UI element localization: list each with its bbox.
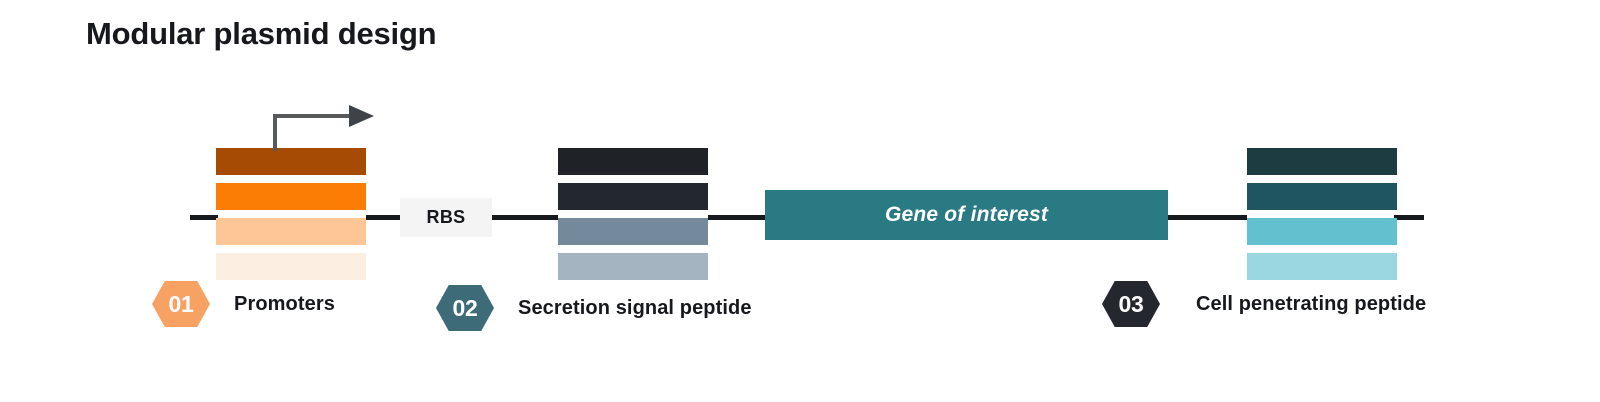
gene-of-interest-label: Gene of interest: [885, 203, 1048, 227]
legend-label-promoters: Promoters: [234, 293, 335, 316]
hexagon-badge-03: 03: [1102, 281, 1160, 327]
backbone-segment-gene-to-cpp: [1167, 215, 1247, 220]
cpp-variant-1[interactable]: [1247, 148, 1397, 175]
promoter-transcription-arrow: [270, 103, 376, 153]
backbone-segment-promoter-to-rbs: [366, 215, 402, 220]
gene-of-interest-block[interactable]: Gene of interest: [765, 190, 1168, 240]
legend-item-cell-penetrating-peptide[interactable]: 03 Cell penetrating peptide: [1102, 281, 1426, 327]
promoter-variant-minimal[interactable]: [216, 253, 366, 280]
cpp-variant-4[interactable]: [1247, 253, 1397, 280]
hexagon-badge-02: 02: [436, 285, 494, 331]
modular-plasmid-design-figure: Modular plasmid design RBS Gene of inter…: [0, 0, 1600, 402]
promoter-variant-medium[interactable]: [216, 183, 366, 210]
rbs-label: RBS: [427, 207, 466, 228]
secretion-signal-variant-2[interactable]: [558, 183, 708, 210]
secretion-signal-variant-1[interactable]: [558, 148, 708, 175]
cell-penetrating-peptide-variant-stack[interactable]: [1247, 148, 1397, 280]
legend-label-secretion-signal-peptide: Secretion signal peptide: [518, 297, 752, 320]
cpp-variant-2[interactable]: [1247, 183, 1397, 210]
legend-item-promoters[interactable]: 01 Promoters: [152, 281, 335, 327]
promoter-variant-stack[interactable]: [216, 148, 366, 280]
backbone-segment-signal-to-gene: [708, 215, 766, 220]
backbone-segment-right: [1394, 215, 1424, 220]
hexagon-badge-02-number: 02: [453, 297, 478, 320]
secretion-signal-variant-stack[interactable]: [558, 148, 708, 280]
secretion-signal-variant-3[interactable]: [558, 218, 708, 245]
backbone-segment-left: [190, 215, 218, 220]
legend-label-cell-penetrating-peptide: Cell penetrating peptide: [1196, 293, 1426, 316]
secretion-signal-variant-4[interactable]: [558, 253, 708, 280]
legend-item-secretion-signal-peptide[interactable]: 02 Secretion signal peptide: [436, 285, 752, 331]
hexagon-badge-03-number: 03: [1119, 293, 1144, 316]
hexagon-badge-01-number: 01: [169, 293, 194, 316]
page-title: Modular plasmid design: [86, 16, 436, 52]
cpp-variant-3[interactable]: [1247, 218, 1397, 245]
rbs-element[interactable]: RBS: [400, 198, 492, 237]
hexagon-badge-01: 01: [152, 281, 210, 327]
backbone-segment-rbs-to-signal: [492, 215, 558, 220]
promoter-variant-weak[interactable]: [216, 218, 366, 245]
